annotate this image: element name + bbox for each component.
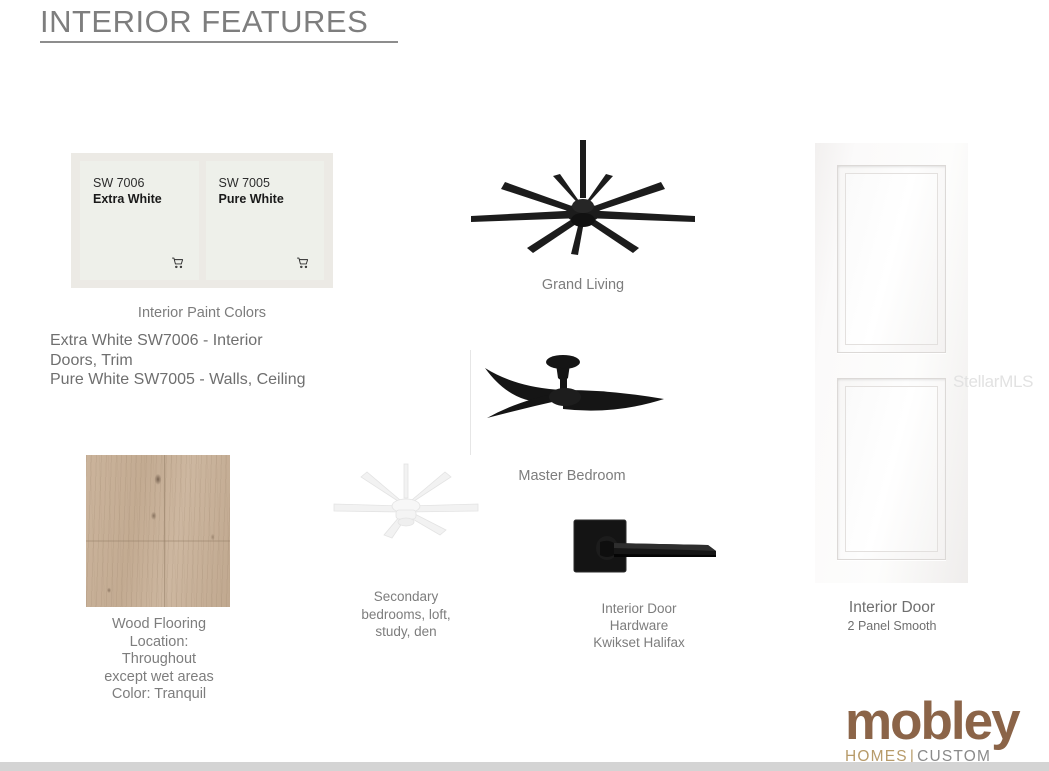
paint-name: Pure White (219, 191, 325, 208)
door-hardware-caption-line-1: Interior Door (560, 600, 718, 617)
secondary-bedrooms-ceiling-fan-image (333, 462, 481, 552)
wood-flooring-swatch (86, 455, 230, 607)
grand-living-ceiling-fan-image (470, 140, 696, 260)
door-hardware-caption: Interior Door Hardware Kwikset Halifax (560, 600, 718, 651)
paint-swatch-pure-white[interactable]: SW 7005 Pure White (206, 161, 325, 280)
wood-flooring-caption: Wood Flooring Location: Throughout excep… (75, 616, 243, 704)
paint-description: Extra White SW7006 - Interior Doors, Tri… (50, 331, 370, 390)
wood-flooring-caption-line-2: Location: (75, 634, 243, 652)
door-panel-bottom (837, 378, 946, 560)
secondary-caption-line-3: study, den (337, 623, 475, 641)
paint-name: Extra White (93, 191, 199, 208)
bottom-bar (0, 762, 1049, 771)
paint-colors-caption: Interior Paint Colors (71, 304, 333, 322)
master-bedroom-caption: Master Bedroom (470, 467, 674, 485)
paint-description-line-2: Doors, Trim (50, 351, 370, 371)
title-underline-rule (40, 41, 398, 43)
shopping-cart-icon[interactable] (171, 256, 185, 270)
interior-door-caption: Interior Door 2 Panel Smooth (812, 598, 972, 635)
wood-flooring-caption-line-1: Wood Flooring (75, 616, 243, 634)
grand-living-caption: Grand Living (480, 276, 686, 294)
door-hardware-caption-line-2: Hardware (560, 617, 718, 634)
master-bedroom-ceiling-fan-image (470, 350, 680, 455)
wood-flooring-caption-line-3: Throughout (75, 651, 243, 669)
door-hardware-caption-line-3: Kwikset Halifax (560, 634, 718, 651)
secondary-caption-line-1: Secondary (337, 588, 475, 606)
shopping-cart-icon[interactable] (296, 256, 310, 270)
paint-swatch-extra-white[interactable]: SW 7006 Extra White (80, 161, 199, 280)
paint-description-line-1: Extra White SW7006 - Interior (50, 331, 370, 351)
paint-code: SW 7005 (219, 175, 325, 191)
door-panel-top (837, 165, 946, 353)
page-title: INTERIOR FEATURES (40, 4, 368, 40)
mobley-wordmark: mobley (845, 697, 1037, 747)
mobley-homes-logo: mobley HOMES|CUSTOM (845, 697, 1037, 766)
paint-code: SW 7006 (93, 175, 199, 191)
interior-door-caption-title: Interior Door (812, 598, 972, 618)
paint-swatch-group: SW 7006 Extra White SW 7005 Pure White (71, 153, 333, 288)
stellarmls-watermark: StellarMLS (953, 372, 1033, 392)
paint-description-line-3: Pure White SW7005 - Walls, Ceiling (50, 370, 370, 390)
interior-door-caption-subtitle: 2 Panel Smooth (812, 618, 972, 635)
door-hardware-image (570, 518, 720, 590)
interior-door-image (815, 143, 968, 583)
secondary-caption-line-2: bedrooms, loft, (337, 606, 475, 624)
wood-flooring-caption-line-4: except wet areas (75, 669, 243, 687)
wood-flooring-caption-line-5: Color: Tranquil (75, 686, 243, 704)
secondary-bedrooms-caption: Secondary bedrooms, loft, study, den (337, 588, 475, 641)
